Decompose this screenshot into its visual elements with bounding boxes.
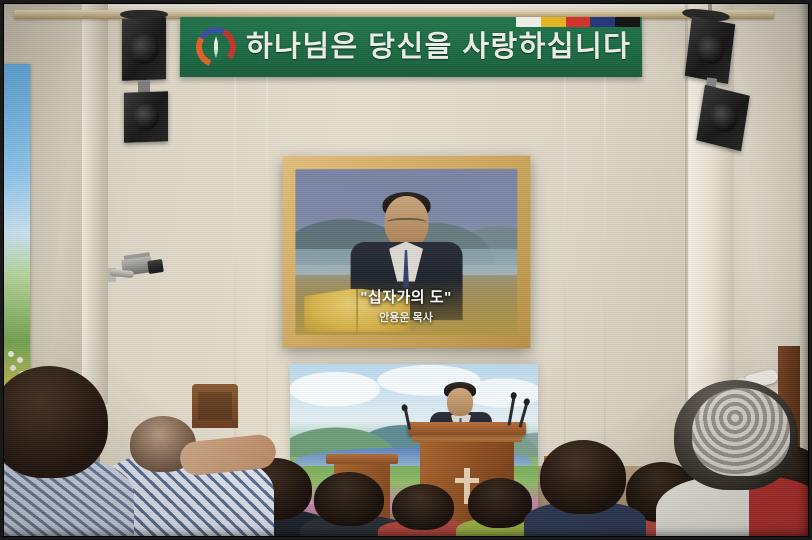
church-sanctuary-scene: 하나님은 당신을 사랑하십니다: [4, 4, 808, 536]
banner-text: 하나님은 당신을 사랑하십니다: [246, 33, 632, 62]
emblem-mark: [208, 36, 224, 58]
congregant: [528, 440, 636, 536]
speaker-cone-icon: [695, 33, 726, 66]
ceiling-speaker-left-top: [122, 17, 166, 81]
congregation: [4, 356, 808, 536]
photograph-frame: 하나님은 당신을 사랑하십니다: [0, 0, 812, 540]
church-emblem-logo: [196, 27, 236, 67]
banner-color-strip: [516, 17, 640, 27]
ceiling-speaker-left-bottom: [124, 91, 168, 143]
congregant: [666, 380, 808, 536]
video-camera-icon: [108, 254, 168, 288]
speaker-cone-icon: [129, 33, 159, 64]
ceiling-speaker-right-bottom: [696, 85, 750, 151]
congregant: [4, 366, 120, 536]
projection-screen: "십자가의 도" 안용운 목사: [295, 169, 517, 336]
left-wall-column: [82, 4, 108, 404]
gray-hair: [692, 388, 790, 476]
ceiling-speaker-right-top: [685, 16, 736, 84]
projection-screen-frame: "십자가의 도" 안용운 목사: [282, 156, 530, 349]
speaker-cone-icon: [707, 101, 739, 135]
preacher-name-caption: 안용운 목사: [295, 309, 517, 325]
camera-lens-icon: [147, 259, 164, 274]
pew-back: [192, 384, 238, 428]
sermon-title-caption: "십자가의 도": [295, 286, 517, 307]
speaker-cone-icon: [133, 104, 159, 131]
eyeglasses-icon: [386, 218, 426, 229]
